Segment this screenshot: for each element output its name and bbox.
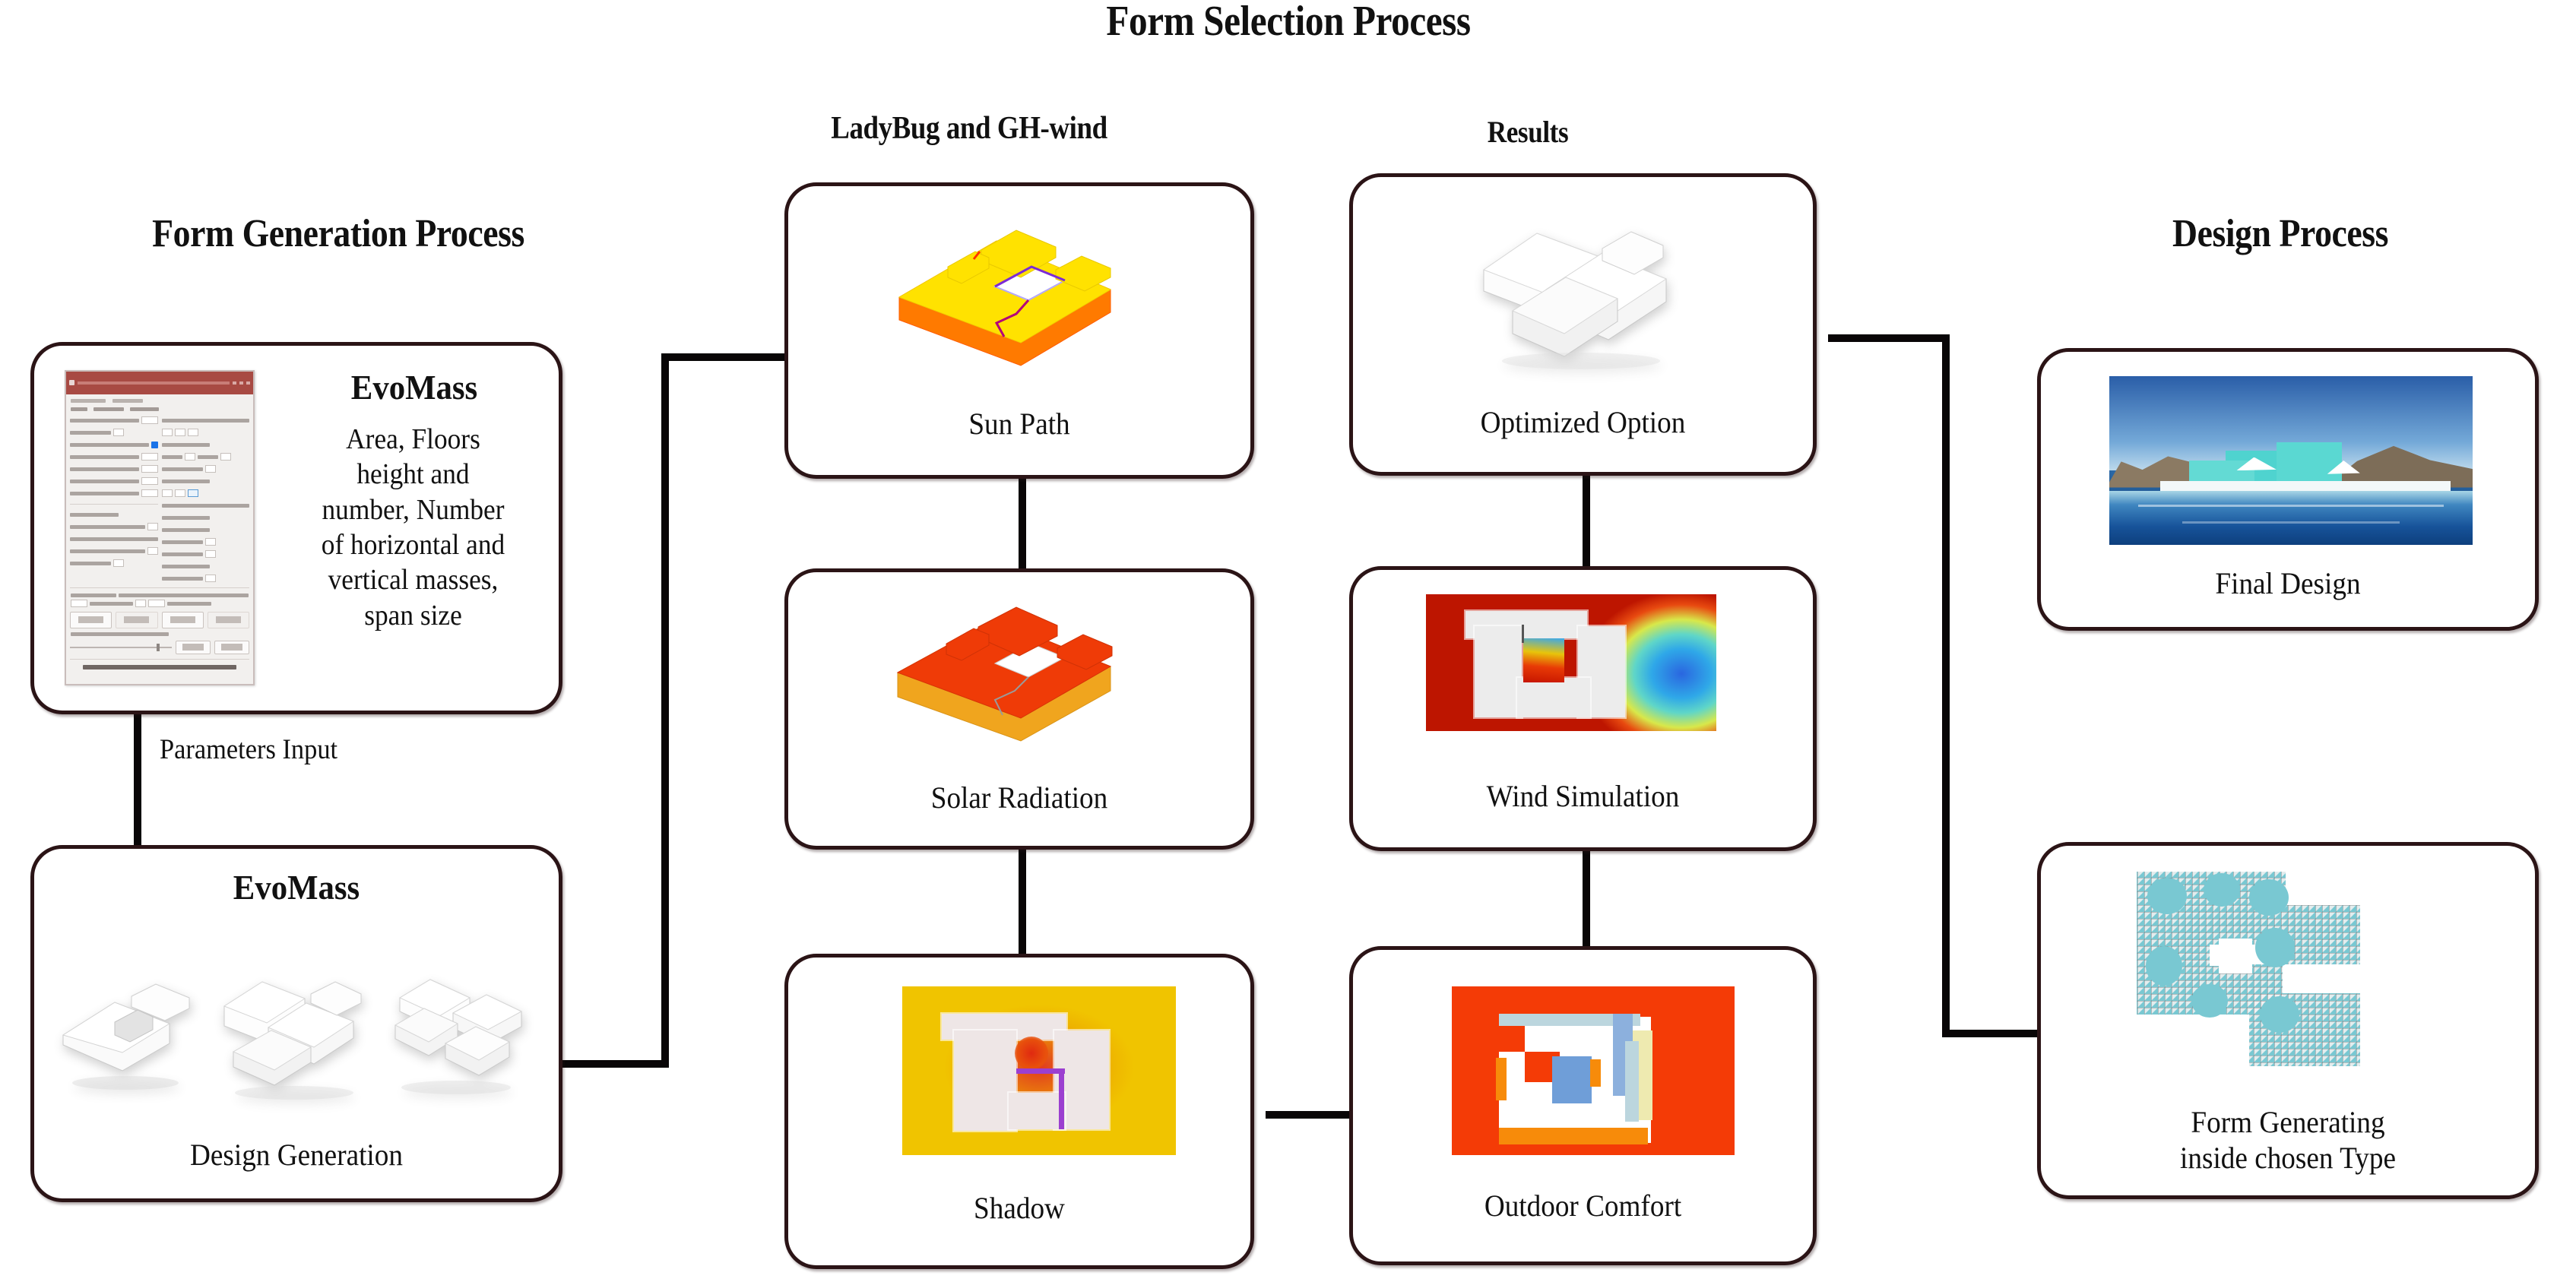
field-row[interactable] [70, 416, 158, 425]
connector-optimized-to-form-v [1942, 334, 1950, 1037]
column-heading-form-generation: Form Generation Process [37, 211, 639, 256]
field-row[interactable] [162, 465, 250, 473]
field-input-focused[interactable] [188, 489, 198, 497]
render-building-teal-2 [2277, 442, 2342, 485]
tab-advanced[interactable] [93, 407, 124, 411]
massing-svg-1 [55, 963, 208, 1100]
field-label [119, 594, 249, 597]
shadow-hotspot [1015, 1037, 1048, 1070]
field-row[interactable] [162, 550, 250, 559]
node-label-optimized-option: Optimized Option [1369, 404, 1797, 440]
node-optimized-option[interactable]: Optimized Option [1349, 173, 1817, 476]
range-slider[interactable] [66, 638, 253, 657]
shadow-analysis-image [902, 986, 1176, 1155]
node-sun-path[interactable]: Sun Path [784, 182, 1254, 479]
massing-thumbnail-option-1 [55, 963, 208, 1100]
comfort-band-right-teal [1625, 1041, 1639, 1122]
field-input[interactable] [205, 550, 216, 558]
set-parameter-button[interactable] [208, 612, 249, 628]
wind-simulation-image [1426, 594, 1716, 731]
slider-knob[interactable] [157, 644, 160, 651]
optimized-option-massing [1467, 200, 1703, 375]
node-label-solar-radiation: Solar Radiation [804, 780, 1234, 815]
field-label [70, 513, 119, 517]
dialog-tab-bar[interactable] [66, 405, 253, 415]
field-label [70, 562, 111, 565]
node-label-form-generating: Form Generating inside chosen Type [2058, 1104, 2518, 1176]
field-row[interactable] [162, 441, 250, 449]
field-label [70, 467, 139, 471]
comfort-patch-orange [1496, 1058, 1507, 1100]
form-divider [70, 659, 249, 660]
field-row[interactable] [162, 562, 250, 571]
field-label [70, 537, 158, 541]
comfort-patch-orange-2 [1590, 1059, 1601, 1087]
dialog-close-icon[interactable] [246, 381, 250, 385]
slider-track[interactable] [70, 647, 172, 648]
form-column-right [162, 416, 250, 583]
field-label [70, 443, 149, 447]
field-row[interactable] [70, 535, 158, 543]
dialog-menu-bar[interactable] [66, 394, 253, 405]
shadow-plan-bridge [1009, 1093, 1065, 1129]
slider-button-a[interactable] [176, 641, 211, 654]
massing-svg-3 [380, 961, 536, 1102]
connector-wind-to-optimized [1583, 475, 1590, 574]
field-label [162, 565, 211, 568]
slider-button-b[interactable] [214, 641, 249, 654]
form-column-left [70, 416, 158, 583]
field-input[interactable] [113, 559, 124, 567]
field-input[interactable] [141, 416, 158, 424]
sun-path-model-svg [882, 207, 1164, 382]
field-label [71, 594, 116, 597]
tab-basic[interactable] [71, 407, 87, 411]
dialog-app-icon [69, 380, 74, 385]
stop-button[interactable] [116, 612, 157, 628]
run-button[interactable] [70, 612, 112, 628]
form-divider [70, 587, 249, 588]
field-row[interactable] [70, 453, 158, 461]
node-label-shadow: Shadow [804, 1190, 1234, 1226]
field-row[interactable] [162, 502, 250, 510]
connector-generation-to-sunpath-v [661, 353, 669, 1068]
field-row[interactable] [162, 514, 250, 522]
field-input[interactable] [205, 575, 216, 582]
solar-radiation-model-svg [881, 589, 1162, 752]
form-generating-mesh-svg [2131, 864, 2450, 1084]
field-label [70, 431, 111, 435]
field-input[interactable] [148, 600, 165, 607]
field-label [162, 528, 211, 532]
dialog-title-text [78, 381, 230, 385]
field-label [162, 419, 250, 423]
field-label [70, 492, 139, 495]
optimized-option-svg [1467, 200, 1703, 375]
render-water-glint [2138, 505, 2444, 507]
field-row[interactable] [70, 429, 158, 437]
menu-item-2[interactable] [112, 399, 143, 403]
connector-generation-to-sunpath-h1 [562, 1060, 669, 1068]
connector-optimized-to-form-h2 [1942, 1030, 2037, 1037]
field-input[interactable] [135, 600, 146, 607]
field-input[interactable] [141, 453, 158, 461]
field-row[interactable] [162, 575, 250, 583]
field-row[interactable] [162, 416, 250, 425]
field-checkbox[interactable] [151, 442, 158, 448]
field-label [71, 632, 169, 636]
massing-svg-2 [215, 959, 375, 1103]
massing-thumbnail-option-2 [215, 959, 375, 1103]
field-label [162, 443, 211, 447]
connector-solar-to-shadow [1019, 847, 1026, 958]
field-input[interactable] [188, 429, 198, 436]
node-label-sun-path: Sun Path [804, 406, 1234, 442]
node-label-outdoor-comfort: Outdoor Comfort [1369, 1188, 1797, 1223]
node-title-evomass-params: EvoMass [287, 367, 542, 408]
connector-label-parameters-input: Parameters Input [160, 733, 337, 766]
field-row[interactable] [162, 453, 250, 461]
field-label [70, 480, 139, 483]
wind-courtyard-vortex [1523, 638, 1564, 682]
node-title-evomass-generation: EvoMass [52, 867, 540, 908]
field-row[interactable] [162, 526, 250, 534]
field-row[interactable] [162, 429, 250, 437]
field-label [70, 455, 139, 459]
comfort-patch-blue [1552, 1056, 1592, 1103]
field-input[interactable] [141, 489, 158, 497]
field-row[interactable] [66, 591, 253, 600]
connector-outdoor-to-wind [1583, 850, 1590, 960]
column-heading-results: Results [1387, 114, 1668, 150]
field-row [66, 630, 253, 638]
field-label [167, 602, 211, 606]
field-row[interactable] [162, 477, 250, 486]
field-row[interactable] [70, 441, 158, 449]
field-input[interactable] [71, 600, 87, 607]
field-label [162, 467, 203, 471]
field-row[interactable] [70, 477, 158, 486]
dialog-form-body [66, 415, 253, 584]
field-label [198, 455, 218, 459]
field-label [162, 455, 182, 459]
field-input[interactable] [175, 429, 185, 436]
diagram-canvas: Form Selection Process Form Generation P… [0, 0, 2576, 1282]
field-input[interactable] [147, 547, 158, 555]
wind-plan-bridge [1517, 678, 1590, 717]
comfort-shadow-bottom [1499, 1128, 1648, 1144]
field-label [162, 552, 203, 556]
field-input[interactable] [220, 453, 231, 461]
field-input[interactable] [141, 465, 158, 473]
node-evomass-parameters[interactable]: EvoMass Area, Floors height and number, … [30, 342, 562, 714]
field-label [70, 419, 139, 423]
node-label-wind-simulation: Wind Simulation [1369, 778, 1797, 814]
dialog-maximize-icon[interactable] [239, 381, 243, 385]
field-label [162, 480, 211, 483]
dialog-button-row[interactable] [66, 608, 253, 630]
dialog-status-bar [66, 662, 253, 673]
shadow-plan-core [954, 1030, 1016, 1131]
field-input[interactable] [113, 429, 124, 436]
node-wind-simulation[interactable]: Wind Simulation [1349, 566, 1817, 851]
field-label [70, 525, 145, 529]
field-input[interactable] [162, 489, 173, 497]
connector-sunpath-to-solar [1019, 479, 1026, 574]
field-row[interactable] [162, 538, 250, 546]
node-evomass-generation[interactable]: EvoMass [30, 845, 562, 1202]
node-final-design[interactable]: Final Design [2037, 348, 2539, 631]
evomass-parameter-dialog[interactable] [65, 370, 255, 685]
reset-button[interactable] [162, 612, 204, 628]
field-row[interactable] [162, 489, 250, 498]
field-input[interactable] [175, 489, 185, 497]
field-input[interactable] [141, 477, 158, 485]
connector-params-to-generation [134, 707, 141, 851]
field-label [162, 577, 203, 581]
render-water [2109, 491, 2473, 545]
outdoor-comfort-image [1452, 986, 1735, 1155]
form-divider [70, 504, 158, 505]
field-label [162, 540, 203, 544]
field-label [90, 602, 133, 606]
tab-typology[interactable] [130, 407, 159, 411]
dialog-title-bar [66, 372, 253, 394]
column-heading-design-process: Design Process [2039, 211, 2521, 256]
node-outdoor-comfort[interactable]: Outdoor Comfort [1349, 946, 1817, 1265]
massing-thumbnail-option-3 [380, 961, 536, 1102]
field-input[interactable] [162, 429, 173, 436]
render-water-glint-2 [2182, 521, 2400, 524]
field-row[interactable] [70, 489, 158, 498]
node-shadow[interactable]: Shadow [784, 954, 1254, 1269]
field-row[interactable] [70, 511, 158, 519]
field-label [70, 549, 145, 553]
field-row[interactable] [70, 523, 158, 531]
field-row[interactable] [70, 559, 158, 568]
field-label [162, 516, 211, 520]
shadow-violet-edge [1016, 1068, 1065, 1074]
node-label-design-generation: Design Generation [52, 1137, 540, 1173]
final-design-render [2109, 376, 2473, 545]
column-heading-ladybug-ghwind: LadyBug and GH-wind [768, 110, 1170, 147]
dialog-minimize-icon[interactable] [233, 381, 236, 385]
connector-shadow-to-outdoor [1266, 1111, 1361, 1119]
node-solar-radiation[interactable]: Solar Radiation [784, 568, 1254, 850]
field-input[interactable] [205, 465, 216, 473]
node-label-final-design: Final Design [2058, 565, 2518, 601]
page-title: Form Selection Process [937, 0, 1640, 46]
field-row[interactable] [66, 600, 253, 608]
wind-plan-core [1475, 626, 1522, 717]
node-form-generating[interactable]: Form Generating inside chosen Type [2037, 842, 2539, 1199]
menu-item-1[interactable] [71, 399, 106, 403]
field-row[interactable] [70, 465, 158, 473]
field-label [162, 504, 250, 508]
node-description-evomass-params: Area, Floors height and number, Number o… [284, 422, 543, 633]
connector-generation-to-sunpath-h2 [661, 353, 798, 361]
field-input[interactable] [185, 453, 195, 461]
shadow-violet-edge-2 [1059, 1068, 1064, 1129]
field-input[interactable] [147, 523, 158, 530]
connector-optimized-to-form-h1 [1828, 334, 1950, 342]
wind-probe-line [1522, 625, 1524, 643]
field-row[interactable] [70, 547, 158, 556]
field-input[interactable] [205, 538, 216, 546]
